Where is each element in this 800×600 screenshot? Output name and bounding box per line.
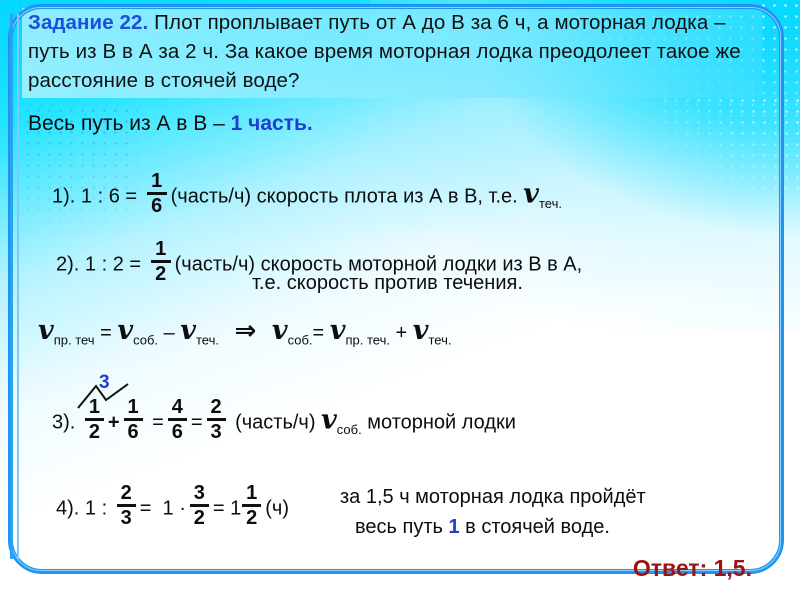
left-accent-stripe [10, 14, 13, 559]
step-4-conclusion-line-1: за 1,5 ч моторная лодка пройдёт [340, 486, 646, 509]
equals-sign: = [313, 322, 325, 344]
numerator: 2 [117, 483, 136, 503]
step-4-mid: 1 · [163, 498, 186, 520]
step-1-fraction: 1 6 [147, 171, 167, 216]
step-4-expression: 1 : [85, 498, 113, 520]
step-3-fraction-4: 2 3 [207, 397, 226, 442]
numerator: 1 [85, 397, 104, 417]
conclusion-highlight: 1 [448, 516, 459, 538]
intro-highlight: 1 часть. [231, 112, 313, 135]
denominator: 3 [207, 422, 226, 442]
equals-sign: = [152, 412, 164, 434]
step-2-fraction-numerator: 1 [151, 239, 171, 259]
numerator: 1 [124, 397, 143, 417]
answer-label: Ответ: [633, 555, 707, 581]
denominator: 2 [242, 508, 261, 528]
step-1-unit: (часть/ч) [171, 186, 251, 208]
step-1-fraction-numerator: 1 [147, 171, 167, 191]
velocity-formula-row: vпр. теч = vсоб. – vтеч. ⇒ vсоб.= vпр. т… [38, 315, 452, 347]
numerator: 4 [168, 397, 187, 417]
step-4-number: 4). [56, 498, 79, 520]
step-3-number: 3). [52, 412, 75, 434]
velocity-subscript: пр. теч. [346, 332, 390, 347]
step-2-fraction-denominator: 2 [151, 264, 171, 284]
slide-canvas: Задание 22. Плот проплывает путь от А до… [0, 0, 800, 600]
intro-text: Весь путь из А в В – [28, 112, 231, 135]
velocity-symbol: v [330, 315, 346, 346]
step-4-unit: (ч) [265, 498, 289, 520]
velocity-subscript: теч. [539, 196, 562, 211]
minus-sign: – [164, 322, 175, 344]
step-4-fraction-3: 1 2 [242, 483, 261, 528]
velocity-subscript: теч. [196, 332, 219, 347]
denominator: 6 [124, 422, 143, 442]
answer-value: 1,5. [707, 555, 752, 581]
step-4: 4). 1 : 2 3 = 1 · 3 2 = 1 1 2 (ч) [56, 484, 289, 529]
velocity-symbol: v [321, 405, 337, 436]
step-4-fraction-2: 3 2 [190, 483, 209, 528]
denominator: 3 [117, 508, 136, 528]
task-statement: Задание 22. Плот проплывает путь от А до… [28, 8, 758, 95]
equals-sign: = [191, 412, 203, 434]
step-3-unit: (часть/ч) [235, 412, 315, 434]
velocity-subscript: соб. [133, 332, 158, 347]
denominator: 6 [168, 422, 187, 442]
step-3-fraction-3: 4 6 [168, 397, 187, 442]
step-2-continuation: т.е. скорость против течения. [252, 272, 523, 295]
step-1-expression: 1 : 6 = [81, 186, 143, 208]
step-3: 3). 1 2 + 1 6 = 4 6 = 2 3 (часть/ч) vсоб… [52, 398, 516, 443]
step-1-text: скорость плота из А в В, т.е. [251, 186, 523, 208]
numerator: 2 [207, 397, 226, 417]
conclusion-text-b: в стоячей воде. [460, 516, 610, 538]
step-2-unit: (часть/ч) [175, 254, 255, 276]
intro-line: Весь путь из А в В – 1 часть. [28, 112, 313, 136]
velocity-symbol: v [180, 315, 196, 346]
step-4-fraction-1: 2 3 [117, 483, 136, 528]
conclusion-text-a: весь путь [355, 516, 448, 538]
step-1-number: 1). [52, 186, 75, 208]
velocity-symbol: v [117, 315, 133, 346]
task-number-label: Задание 22. [28, 11, 148, 34]
velocity-symbol: v [38, 315, 54, 346]
step-1: 1). 1 : 6 = 1 6 (часть/ч) скорость плота… [52, 172, 562, 217]
velocity-subscript: теч. [429, 332, 452, 347]
step-1-fraction-denominator: 6 [147, 196, 167, 216]
velocity-symbol: v [272, 315, 288, 346]
step-4-whole-number: 1 [230, 498, 241, 520]
answer-line: Ответ: 1,5. [633, 555, 752, 582]
velocity-symbol: v [413, 315, 429, 346]
velocity-subscript: соб. [288, 332, 313, 347]
step-3-text: моторной лодки [362, 412, 516, 434]
step-2-fraction: 1 2 [151, 239, 171, 284]
plus-sign: + [396, 322, 408, 344]
step-4-conclusion-line-2: весь путь 1 в стоячей воде. [355, 516, 610, 539]
equals-sign: = [213, 498, 225, 520]
velocity-subscript: пр. теч [54, 332, 95, 347]
step-3-fraction-2: 1 6 [124, 397, 143, 442]
velocity-symbol: v [523, 179, 539, 210]
denominator: 2 [190, 508, 209, 528]
numerator: 1 [242, 483, 261, 503]
denominator: 2 [85, 422, 104, 442]
numerator: 3 [190, 483, 209, 503]
step-2-number: 2). [56, 254, 79, 276]
left-accent-stripe-2 [17, 14, 19, 559]
step-2-expression: 1 : 2 = [85, 254, 147, 276]
step-3-fraction-1: 1 2 [85, 397, 104, 442]
equals-sign: = [100, 322, 112, 344]
velocity-subscript: соб. [337, 422, 362, 437]
equals-sign: = [140, 498, 152, 520]
plus-sign: + [108, 412, 120, 434]
implies-arrow-icon: ⇒ [235, 315, 257, 345]
